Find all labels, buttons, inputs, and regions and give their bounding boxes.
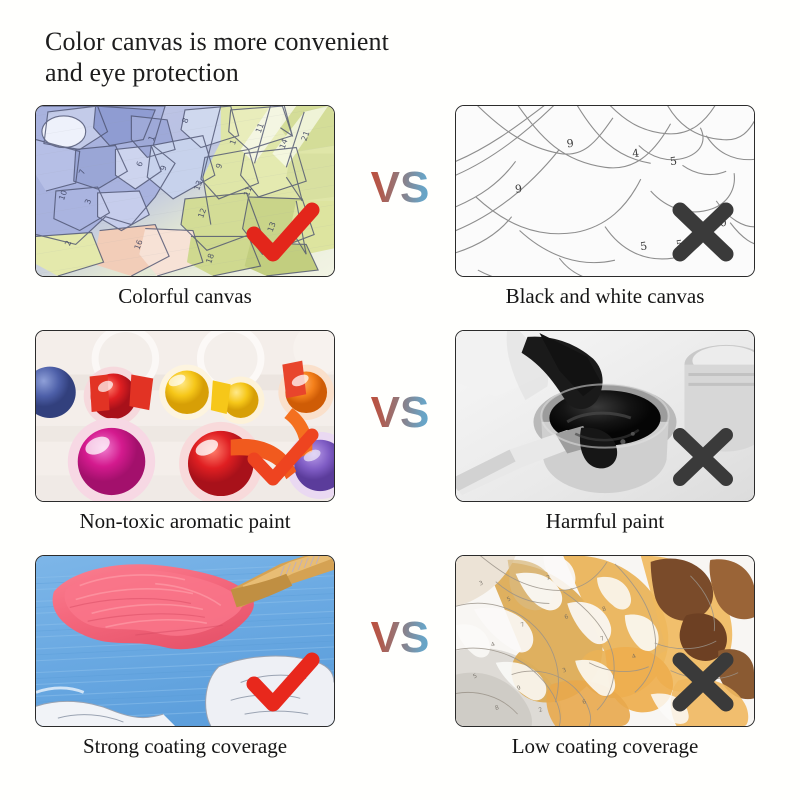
comparison-row-canvas: 7 10 3 6 9 8 9 13 11 12 13 16 18: [0, 105, 800, 330]
comparison-row-paint: Non-toxic aromatic paint VS: [0, 330, 800, 555]
colorful-paint-pots-art: [36, 331, 334, 501]
image-panel-low-coverage: 3 5 2 7 4 6 8 5 9 3 6 4 2: [455, 555, 755, 727]
vs-label-coverage: VS: [355, 613, 445, 663]
comparison-good-coverage: Strong coating coverage: [35, 555, 335, 727]
thick-pink-paint-art: [36, 556, 334, 726]
caption-blackwhite-canvas: Black and white canvas: [455, 283, 755, 309]
comparison-row-coverage: Strong coating coverage VS: [0, 555, 800, 780]
patchy-paint-art: 3 5 2 7 4 6 8 5 9 3 6 4 2: [456, 556, 754, 726]
image-panel-nontoxic-paint: [35, 330, 335, 502]
caption-colorful-canvas: Colorful canvas: [35, 283, 335, 309]
blank-outline-canvas-art: 9 4 5 9 5 0 5: [456, 106, 754, 276]
comparison-infographic: Color canvas is more convenient and eye …: [0, 0, 800, 800]
comparison-good-paint: Non-toxic aromatic paint: [35, 330, 335, 502]
comparison-bad-paint: Harmful paint: [455, 330, 755, 502]
image-panel-colorful-canvas: 7 10 3 6 9 8 9 13 11 12 13 16 18: [35, 105, 335, 277]
image-panel-blackwhite-canvas: 9 4 5 9 5 0 5: [455, 105, 755, 277]
black-paint-jar-art: [456, 331, 754, 501]
vs-label-canvas: VS: [355, 163, 445, 213]
comparison-bad-canvas: 9 4 5 9 5 0 5 Bla: [455, 105, 755, 277]
caption-low-coverage: Low coating coverage: [455, 733, 755, 759]
vs-label-paint: VS: [355, 388, 445, 438]
caption-harmful-paint: Harmful paint: [455, 508, 755, 534]
page-title: Color canvas is more convenient and eye …: [45, 26, 605, 88]
colorful-paint-by-numbers-canvas-art: 7 10 3 6 9 8 9 13 11 12 13 16 18: [36, 106, 334, 276]
caption-nontoxic-paint: Non-toxic aromatic paint: [35, 508, 335, 534]
image-panel-harmful-paint: [455, 330, 755, 502]
image-panel-strong-coverage: [35, 555, 335, 727]
comparison-good-canvas: 7 10 3 6 9 8 9 13 11 12 13 16 18: [35, 105, 335, 277]
page-title-line-2: and eye protection: [45, 57, 605, 88]
page-title-line-1: Color canvas is more convenient: [45, 26, 605, 57]
comparison-bad-coverage: 3 5 2 7 4 6 8 5 9 3 6 4 2: [455, 555, 755, 727]
caption-strong-coverage: Strong coating coverage: [35, 733, 335, 759]
